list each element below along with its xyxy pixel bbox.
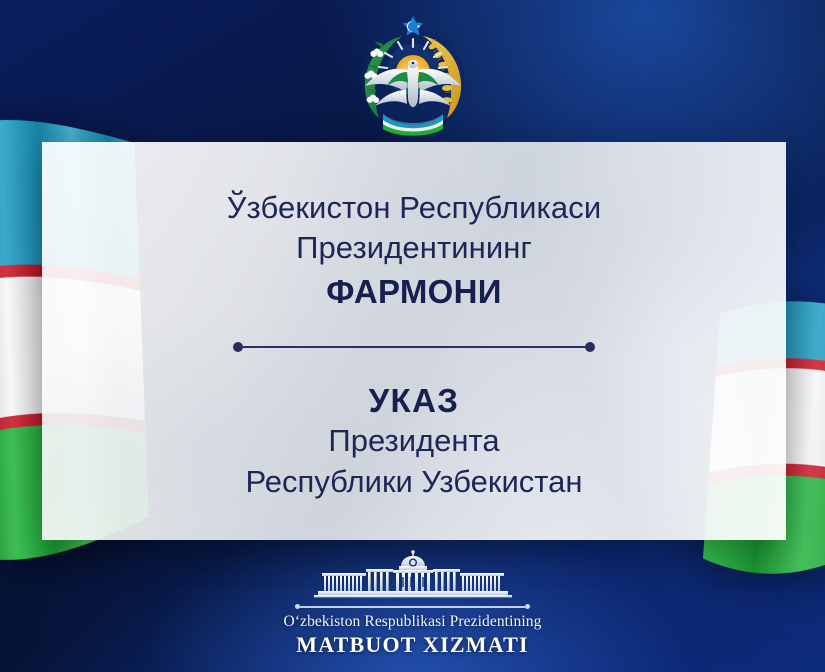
press-logo-rule — [295, 604, 530, 610]
oqsaroy-palace-icon — [288, 545, 538, 601]
uzbek-title-line-1: Ўзбекистон Республикаси — [42, 188, 786, 228]
press-service-subtitle: O‘zbekiston Respublikasi Prezidentining — [263, 612, 563, 631]
uzbek-title-line-2: Президентининг — [42, 228, 786, 268]
press-rule-bar — [300, 606, 525, 608]
uzbek-decree-heading: ФАРМОНИ — [42, 271, 786, 313]
russian-title-line-2: Президента — [42, 421, 786, 462]
divider-dot-right — [585, 342, 595, 352]
russian-decree-heading: УКАЗ — [42, 380, 786, 421]
decree-card: Ўзбекистон Республикаси Президентининг Ф… — [42, 142, 786, 540]
divider-bar — [239, 346, 589, 349]
state-emblem-of-uzbekistan — [349, 14, 477, 138]
press-service-logo-block: O‘zbekiston Respublikasi Prezidentining … — [263, 545, 563, 658]
press-service-title: MATBUOT XIZMATI — [263, 632, 563, 658]
press-rule-dot-right — [525, 604, 530, 609]
russian-title-line-3: Республики Узбекистан — [42, 462, 786, 503]
decree-announcement-graphic: Ўзбекистон Республикаси Президентининг Ф… — [0, 0, 825, 672]
divider-rule — [233, 340, 595, 354]
